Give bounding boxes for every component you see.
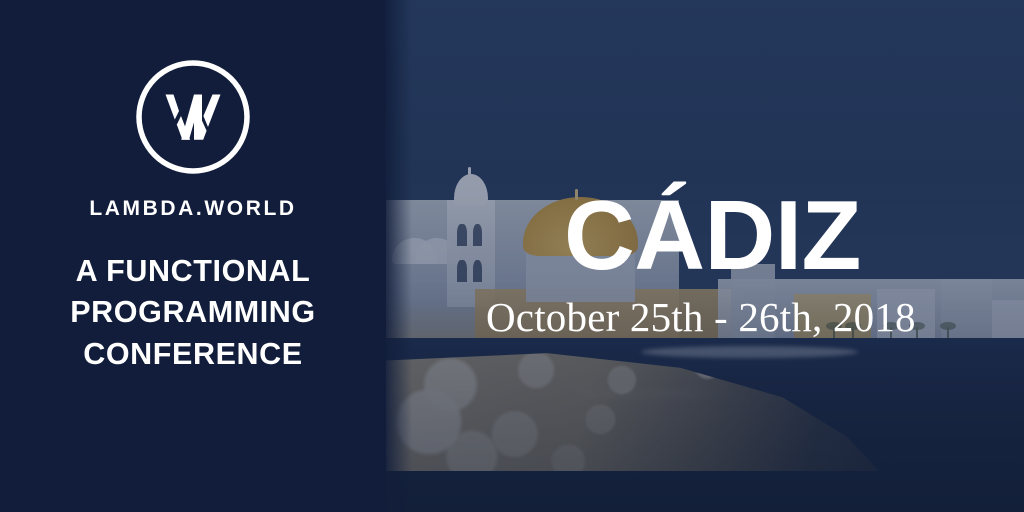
event-dates: October 25th - 26th, 2018 (486, 297, 916, 338)
event-overlay-text: CÁDIZ October 25th - 26th, 2018 (386, 0, 1024, 512)
event-city-title: CÁDIZ (564, 186, 861, 284)
brand-panel: LAMBDA.WORLD A FUNCTIONAL PROGRAMMING CO… (0, 0, 386, 512)
lambda-world-w-circle-icon (132, 56, 254, 178)
cadiz-photo-panel: CÁDIZ October 25th - 26th, 2018 (386, 0, 1024, 512)
conference-banner: LAMBDA.WORLD A FUNCTIONAL PROGRAMMING CO… (0, 0, 1024, 512)
tagline-line-1: A FUNCTIONAL (23, 251, 363, 292)
tagline-line-2: PROGRAMMING (23, 292, 363, 333)
tagline-line-3: CONFERENCE (23, 334, 363, 375)
brand-name: LAMBDA.WORLD (89, 198, 296, 219)
conference-tagline: A FUNCTIONAL PROGRAMMING CONFERENCE (23, 251, 363, 375)
